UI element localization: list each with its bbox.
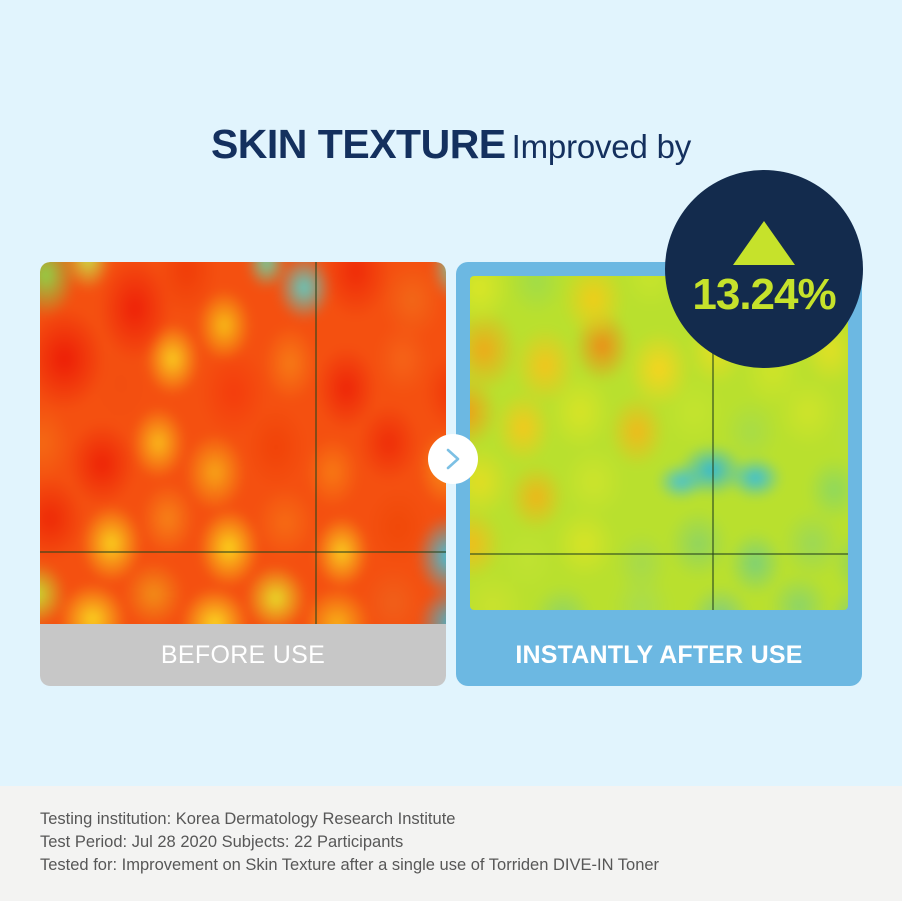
crosshair-horizontal bbox=[40, 551, 446, 553]
study-detail-line: Testing institution: Korea Dermatology R… bbox=[40, 808, 659, 831]
study-detail-line: Test Period: Jul 28 2020 Subjects: 22 Pa… bbox=[40, 831, 659, 854]
study-details: Testing institution: Korea Dermatology R… bbox=[40, 808, 659, 877]
page-title: SKIN TEXTUREImproved by bbox=[0, 124, 902, 165]
page-title-strong: SKIN TEXTURE bbox=[211, 121, 506, 167]
heatmap-before bbox=[40, 262, 446, 624]
improvement-badge: 13.24% bbox=[665, 170, 863, 368]
caption-after: INSTANTLY AFTER USE bbox=[456, 624, 862, 686]
heatmap-before-surface bbox=[40, 262, 446, 624]
improvement-value: 13.24% bbox=[692, 273, 835, 317]
hero-section: SKIN TEXTUREImproved by 13.24% BEFORE US… bbox=[0, 0, 902, 786]
crosshair-horizontal bbox=[470, 553, 848, 555]
crosshair-vertical bbox=[315, 262, 317, 624]
chevron-right-icon bbox=[428, 434, 478, 484]
caption-before: BEFORE USE bbox=[40, 624, 446, 686]
footer-section: Testing institution: Korea Dermatology R… bbox=[0, 786, 902, 901]
page-title-light: Improved by bbox=[512, 128, 691, 165]
comparison-card-before: BEFORE USE bbox=[40, 262, 446, 686]
study-detail-line: Tested for: Improvement on Skin Texture … bbox=[40, 854, 659, 877]
triangle-up-icon bbox=[733, 221, 795, 265]
